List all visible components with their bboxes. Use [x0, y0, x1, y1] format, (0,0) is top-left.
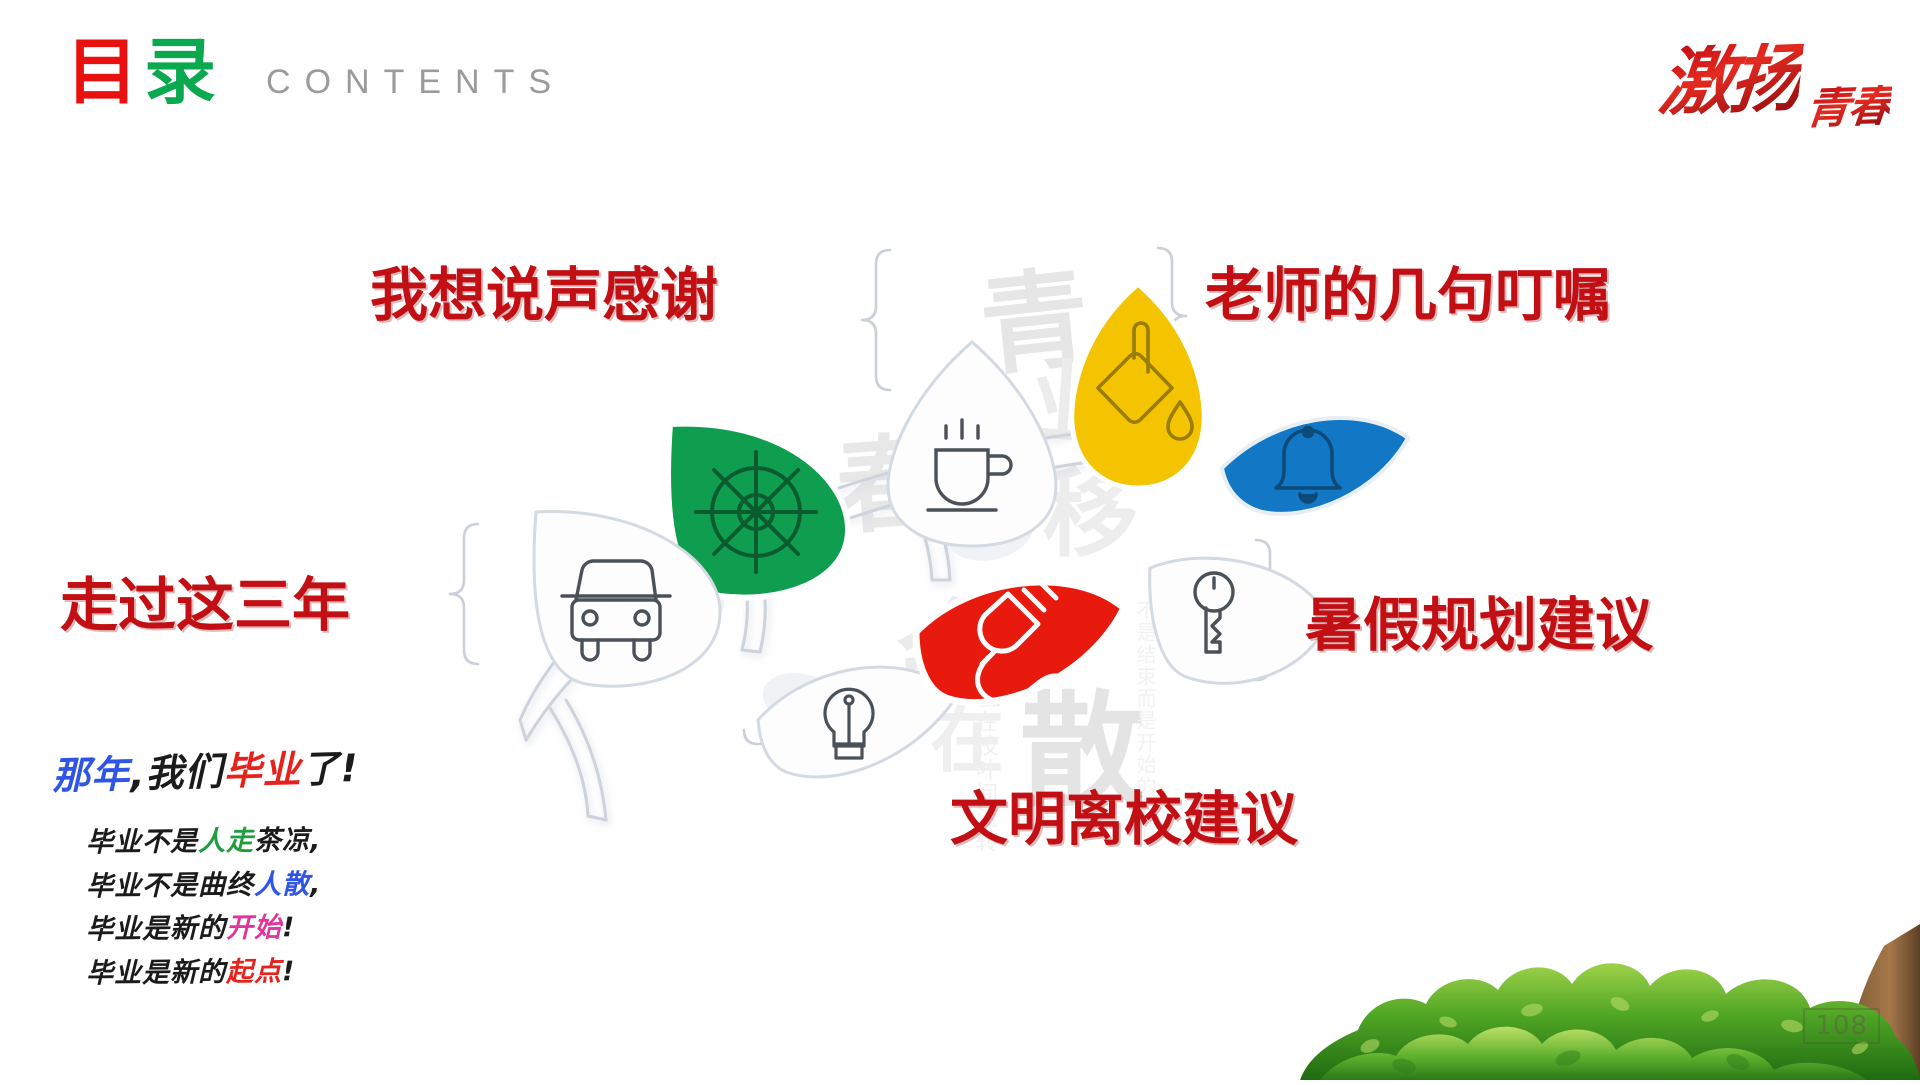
- section-label-summer[interactable]: 暑假规划建议: [1305, 596, 1653, 654]
- brand-logo-sub: 青春: [1803, 85, 1892, 132]
- handwriting-title-part-3: 毕业: [223, 747, 302, 793]
- section-label-leaving[interactable]: 文明离校建议: [950, 790, 1298, 848]
- leaf-coffee[interactable]: [884, 338, 1060, 550]
- leaf-paint[interactable]: [1068, 280, 1208, 492]
- brand-logo-main: 激扬: [1656, 42, 1804, 121]
- hw3-accent: 开始: [226, 913, 282, 945]
- hw3-plain-b: !: [282, 913, 296, 944]
- handwriting-block: 那年,我们毕业了! 毕业不是人走茶凉, 毕业不是曲终人散, 毕业是新的开始! 毕…: [52, 752, 359, 995]
- page-title-char-1: 目: [66, 36, 144, 108]
- foliage-decoration: 108: [1300, 880, 1920, 1080]
- brand-logo: 激扬 青春: [1530, 22, 1890, 140]
- handwriting-title-part-4: 了!: [301, 746, 359, 791]
- handwriting-line-3: 毕业是新的开始!: [86, 906, 359, 953]
- handwriting-line-1: 毕业不是人走茶凉,: [86, 818, 359, 865]
- hw3-plain-a: 毕业是新的: [86, 913, 226, 945]
- page-number: 108: [1803, 1008, 1880, 1044]
- handwriting-line-4: 毕业是新的起点!: [86, 950, 359, 997]
- hw2-plain-a: 毕业不是曲终: [86, 869, 254, 902]
- page-title-char-2: 录: [144, 36, 222, 108]
- leaf-plug[interactable]: [912, 568, 1128, 718]
- hw2-plain-b: ,: [310, 868, 322, 899]
- handwriting-lines: 毕业不是人走茶凉, 毕业不是曲终人散, 毕业是新的开始! 毕业是新的起点!: [86, 820, 359, 995]
- hw1-plain-b: 茶凉,: [254, 825, 322, 857]
- section-label-threeyear[interactable]: 走过这三年: [60, 576, 350, 634]
- leaf-bell[interactable]: [1218, 410, 1414, 522]
- handwriting-title: 那年,我们毕业了!: [52, 748, 360, 798]
- section-label-teacher[interactable]: 老师的几句叮嘱: [1205, 266, 1611, 324]
- handwriting-line-2: 毕业不是曲终人散,: [86, 862, 359, 909]
- page-title: 目 录 CONTENTS: [66, 36, 565, 108]
- hw4-accent: 起点: [226, 956, 282, 988]
- leaf-car[interactable]: [528, 504, 728, 696]
- page-title-english: CONTENTS: [266, 65, 565, 99]
- section-label-thanks[interactable]: 我想说声感谢: [370, 266, 718, 324]
- hw4-plain-b: !: [282, 956, 296, 987]
- hw2-accent: 人散: [254, 869, 310, 901]
- handwriting-title-part-1: 那年: [51, 752, 130, 798]
- hw1-accent: 人走: [198, 825, 254, 857]
- hw1-plain-a: 毕业不是: [86, 826, 198, 858]
- slide-canvas: 目 录 CONTENTS 激扬 青春 青 春 业 移 会 散 在 我们的爱会在枝…: [0, 0, 1920, 1080]
- handwriting-title-part-2: ,我们: [129, 750, 224, 796]
- hw4-plain-a: 毕业是新的: [86, 957, 226, 989]
- slide-header: 目 录 CONTENTS 激扬 青春: [0, 0, 1920, 160]
